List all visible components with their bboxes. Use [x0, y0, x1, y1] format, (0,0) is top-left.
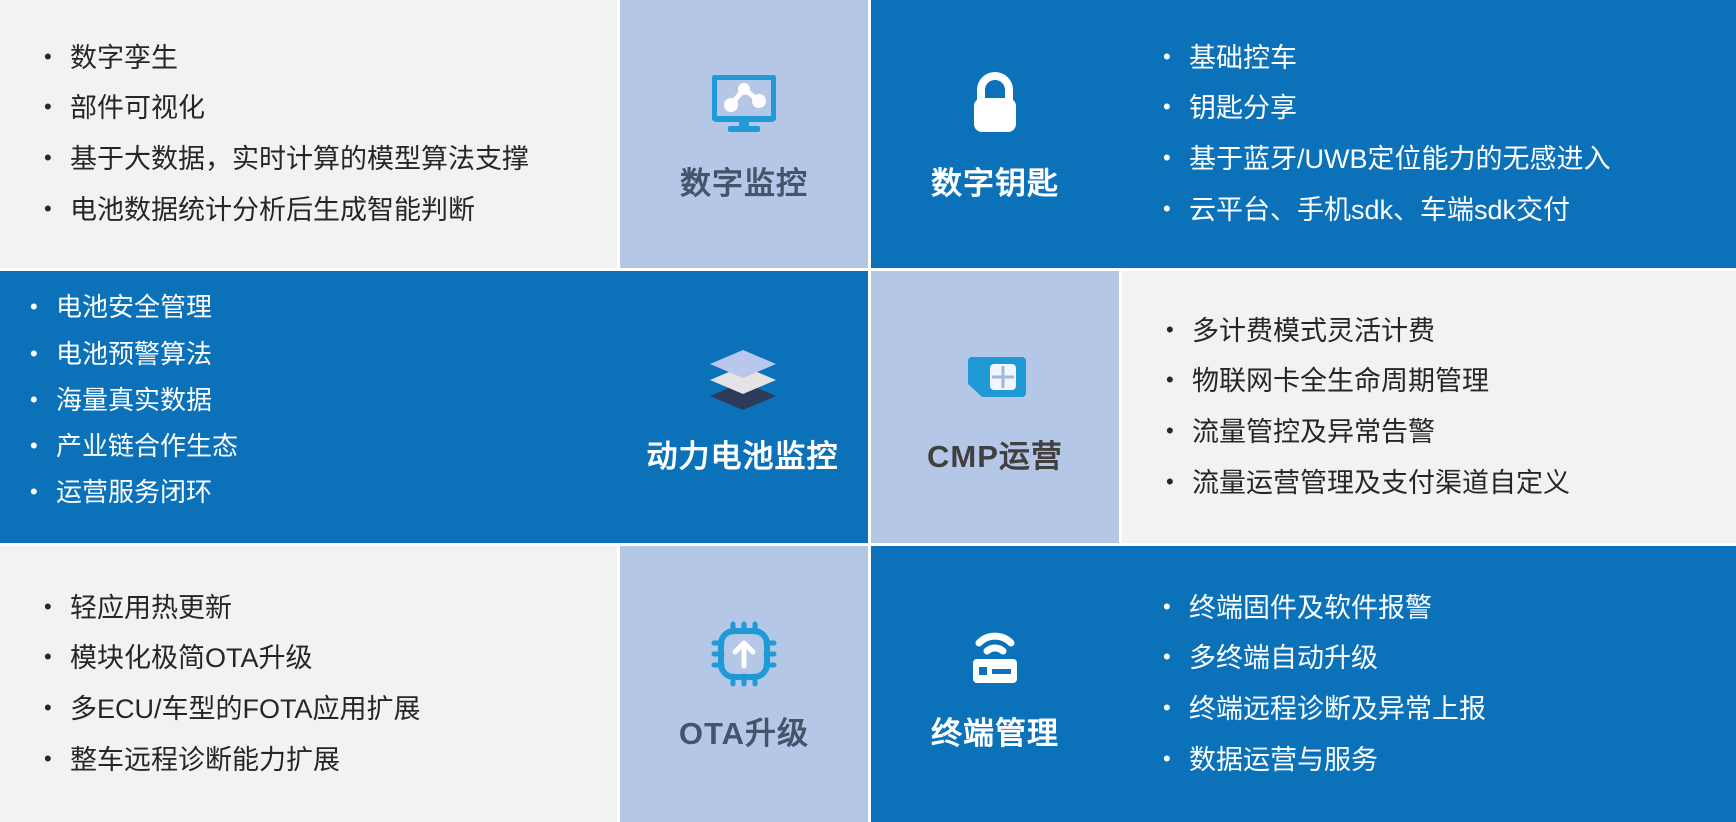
- list-item-text: 电池安全管理: [56, 291, 212, 324]
- list-item: •多计费模式灵活计费: [1166, 314, 1570, 349]
- power-battery-monitoring-panel[interactable]: 动力电池监控: [617, 271, 868, 543]
- cmp-operation-panel[interactable]: CMP运营: [868, 271, 1119, 543]
- list-item: •终端远程诊断及异常上报: [1163, 692, 1486, 727]
- list-item: •海量真实数据: [30, 384, 238, 417]
- list-item: •流量运营管理及支付渠道自定义: [1166, 466, 1570, 501]
- list-item: •多终端自动升级: [1163, 641, 1486, 676]
- bullet-list: •数字孪生 •部件可视化 •基于大数据，实时计算的模型算法支撑 •电池数据统计分…: [44, 41, 529, 227]
- bullet-dot: •: [1163, 142, 1189, 174]
- cmp-operation-list: •多计费模式灵活计费 •物联网卡全生命周期管理 •流量管控及异常告警 •流量运营…: [1119, 271, 1736, 543]
- row-battery: •电池安全管理 •电池预警算法 •海量真实数据 •产业链合作生态 •运营服务闭环…: [0, 268, 1736, 543]
- list-item: •轻应用热更新: [44, 591, 421, 626]
- list-item-text: 产业链合作生态: [56, 430, 238, 463]
- list-item: •整车远程诊断能力扩展: [44, 743, 421, 778]
- bullet-dot: •: [44, 41, 70, 73]
- bullet-dot: •: [30, 430, 56, 462]
- layers-stack-icon: [704, 339, 782, 415]
- list-item-text: 基础控车: [1189, 41, 1297, 76]
- list-item-text: 基于大数据，实时计算的模型算法支撑: [70, 142, 529, 177]
- list-item: •钥匙分享: [1163, 91, 1611, 126]
- list-item-text: 云平台、手机sdk、车端sdk交付: [1189, 193, 1570, 228]
- list-item: •电池预警算法: [30, 338, 238, 371]
- list-item-text: 多计费模式灵活计费: [1192, 314, 1435, 349]
- bullet-list: •多计费模式灵活计费 •物联网卡全生命周期管理 •流量管控及异常告警 •流量运营…: [1166, 314, 1570, 500]
- lock-icon: [966, 66, 1024, 142]
- list-item-text: 流量运营管理及支付渠道自定义: [1192, 466, 1570, 501]
- list-item: •部件可视化: [44, 91, 529, 126]
- digital-key-list: •基础控车 •钥匙分享 •基于蓝牙/UWB定位能力的无感进入 •云平台、手机sd…: [1119, 0, 1736, 268]
- bullet-dot: •: [1163, 91, 1189, 123]
- row-digital: •数字孪生 •部件可视化 •基于大数据，实时计算的模型算法支撑 •电池数据统计分…: [0, 0, 1736, 268]
- list-item: •多ECU/车型的FOTA应用扩展: [44, 692, 421, 727]
- bullet-dot: •: [1166, 314, 1192, 346]
- list-item-text: 终端固件及软件报警: [1189, 591, 1432, 626]
- panel-title: 动力电池监控: [647, 431, 839, 476]
- digital-key-panel[interactable]: 数字钥匙: [868, 0, 1119, 268]
- bullet-list: •终端固件及软件报警 •多终端自动升级 •终端远程诊断及异常上报 •数据运营与服…: [1163, 591, 1486, 777]
- list-item: •模块化极简OTA升级: [44, 641, 421, 676]
- bullet-dot: •: [44, 743, 70, 775]
- bullet-dot: •: [1166, 364, 1192, 396]
- bullet-list: •轻应用热更新 •模块化极简OTA升级 •多ECU/车型的FOTA应用扩展 •整…: [44, 591, 421, 777]
- digital-twin-list: •数字孪生 •部件可视化 •基于大数据，实时计算的模型算法支撑 •电池数据统计分…: [0, 0, 617, 268]
- bullet-dot: •: [1166, 415, 1192, 447]
- list-item-text: 海量真实数据: [56, 384, 212, 417]
- bullet-dot: •: [1163, 41, 1189, 73]
- list-item: •产业链合作生态: [30, 430, 238, 463]
- sim-card-icon: [962, 339, 1028, 415]
- bullet-dot: •: [30, 291, 56, 323]
- list-item-text: 电池预警算法: [56, 338, 212, 371]
- list-item-text: 模块化极简OTA升级: [70, 641, 313, 676]
- panel-title: 终端管理: [931, 708, 1059, 753]
- capability-matrix-board: •数字孪生 •部件可视化 •基于大数据，实时计算的模型算法支撑 •电池数据统计分…: [0, 0, 1736, 822]
- list-item-text: 轻应用热更新: [70, 591, 232, 626]
- bullet-dot: •: [30, 338, 56, 370]
- bullet-dot: •: [44, 91, 70, 123]
- battery-monitoring-list: •电池安全管理 •电池预警算法 •海量真实数据 •产业链合作生态 •运营服务闭环: [0, 271, 617, 543]
- list-item-text: 流量管控及异常告警: [1192, 415, 1435, 450]
- list-item-text: 基于蓝牙/UWB定位能力的无感进入: [1189, 142, 1611, 177]
- bullet-dot: •: [1163, 692, 1189, 724]
- monitor-network-icon: [712, 66, 776, 142]
- bullet-list: •电池安全管理 •电池预警算法 •海量真实数据 •产业链合作生态 •运营服务闭环: [30, 291, 238, 522]
- bullet-dot: •: [1163, 591, 1189, 623]
- bullet-dot: •: [44, 193, 70, 225]
- panel-title: CMP运营: [927, 431, 1063, 476]
- bullet-dot: •: [44, 591, 70, 623]
- panel-title: 数字监控: [680, 158, 808, 203]
- bullet-dot: •: [44, 142, 70, 174]
- row-ota: •轻应用热更新 •模块化极简OTA升级 •多ECU/车型的FOTA应用扩展 •整…: [0, 543, 1736, 822]
- list-item: •运营服务闭环: [30, 476, 238, 509]
- digital-monitoring-panel[interactable]: 数字监控: [617, 0, 868, 268]
- list-item-text: 运营服务闭环: [56, 476, 212, 509]
- chip-upload-icon: [708, 616, 780, 692]
- terminal-management-list: •终端固件及软件报警 •多终端自动升级 •终端远程诊断及异常上报 •数据运营与服…: [1119, 546, 1736, 822]
- list-item-text: 钥匙分享: [1189, 91, 1297, 126]
- list-item: •基础控车: [1163, 41, 1611, 76]
- list-item-text: 整车远程诊断能力扩展: [70, 743, 340, 778]
- list-item: •电池安全管理: [30, 291, 238, 324]
- list-item: •电池数据统计分析后生成智能判断: [44, 193, 529, 228]
- panel-title: OTA升级: [679, 708, 809, 753]
- list-item: •流量管控及异常告警: [1166, 415, 1570, 450]
- list-item: •物联网卡全生命周期管理: [1166, 364, 1570, 399]
- list-item: •基于大数据，实时计算的模型算法支撑: [44, 142, 529, 177]
- list-item-text: 电池数据统计分析后生成智能判断: [70, 193, 475, 228]
- terminal-management-panel[interactable]: 终端管理: [868, 546, 1119, 822]
- list-item-text: 部件可视化: [70, 91, 205, 126]
- list-item: •终端固件及软件报警: [1163, 591, 1486, 626]
- ota-upgrade-list: •轻应用热更新 •模块化极简OTA升级 •多ECU/车型的FOTA应用扩展 •整…: [0, 546, 617, 822]
- list-item-text: 物联网卡全生命周期管理: [1192, 364, 1489, 399]
- bullet-list: •基础控车 •钥匙分享 •基于蓝牙/UWB定位能力的无感进入 •云平台、手机sd…: [1163, 41, 1611, 227]
- bullet-dot: •: [44, 692, 70, 724]
- bullet-dot: •: [1163, 193, 1189, 225]
- bullet-dot: •: [30, 476, 56, 508]
- list-item: •云平台、手机sdk、车端sdk交付: [1163, 193, 1611, 228]
- bullet-dot: •: [44, 641, 70, 673]
- bullet-dot: •: [1163, 641, 1189, 673]
- list-item-text: 多ECU/车型的FOTA应用扩展: [70, 692, 421, 727]
- bullet-dot: •: [30, 384, 56, 416]
- ota-upgrade-panel[interactable]: OTA升级: [617, 546, 868, 822]
- list-item-text: 数字孪生: [70, 41, 178, 76]
- list-item-text: 多终端自动升级: [1189, 641, 1378, 676]
- list-item-text: 终端远程诊断及异常上报: [1189, 692, 1486, 727]
- list-item-text: 数据运营与服务: [1189, 743, 1378, 778]
- list-item: •数据运营与服务: [1163, 743, 1486, 778]
- list-item: •基于蓝牙/UWB定位能力的无感进入: [1163, 142, 1611, 177]
- panel-title: 数字钥匙: [931, 158, 1059, 203]
- router-signal-icon: [963, 616, 1027, 692]
- list-item: •数字孪生: [44, 41, 529, 76]
- bullet-dot: •: [1166, 466, 1192, 498]
- bullet-dot: •: [1163, 743, 1189, 775]
